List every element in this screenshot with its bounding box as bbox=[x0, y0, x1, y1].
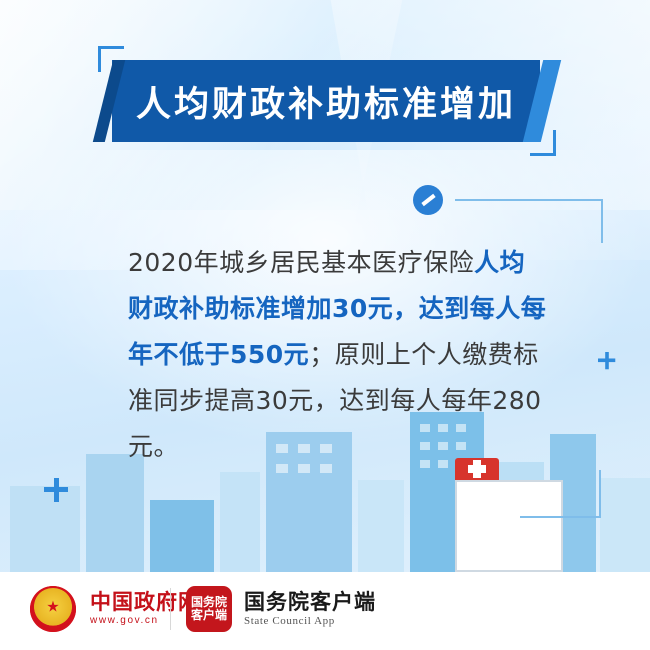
hospital-building bbox=[455, 480, 563, 572]
national-emblem-icon: ★ bbox=[30, 586, 76, 632]
app-name-en: State Council App bbox=[244, 614, 376, 628]
building bbox=[220, 472, 260, 572]
app-brand[interactable]: 国务院 客户端 国务院客户端 State Council App bbox=[186, 586, 376, 632]
gov-name-cn: 中国政府网 bbox=[90, 590, 200, 614]
corner-tick-top-left-v bbox=[98, 46, 101, 72]
footer-divider bbox=[170, 588, 171, 630]
gov-name-en: www.gov.cn bbox=[90, 614, 200, 628]
corner-tick-bottom-right-v bbox=[553, 130, 556, 156]
building bbox=[86, 454, 144, 572]
building bbox=[150, 500, 214, 572]
building bbox=[10, 486, 80, 572]
blue-dot-icon bbox=[413, 185, 443, 215]
corner-tick-top-left-h bbox=[98, 46, 124, 49]
app-icon-line2: 客户端 bbox=[191, 609, 227, 622]
body-text-part-1: 2020年城乡居民基本医疗保险 bbox=[128, 248, 474, 277]
state-council-app-icon: 国务院 客户端 bbox=[186, 586, 232, 632]
decor-line-vertical-lower bbox=[599, 470, 601, 518]
poster-canvas: 人均财政补助标准增加 2020年城乡居民基本医疗保险人均财政补助标准增加30元，… bbox=[0, 0, 650, 650]
footer-bar: ★ 中国政府网 www.gov.cn 国务院 客户端 国务院客户端 State … bbox=[0, 572, 650, 650]
title-banner: 人均财政补助标准增加 bbox=[112, 60, 540, 142]
app-name-cn: 国务院客户端 bbox=[244, 590, 376, 614]
decor-line-horizontal-lower bbox=[520, 516, 601, 518]
body-paragraph: 2020年城乡居民基本医疗保险人均财政补助标准增加30元，达到每人每年不低于55… bbox=[128, 240, 548, 470]
page-title: 人均财政补助标准增加 bbox=[112, 60, 540, 142]
decor-line-horizontal bbox=[455, 199, 603, 201]
decor-line-vertical bbox=[601, 199, 603, 243]
building bbox=[600, 478, 650, 572]
gov-brand[interactable]: ★ 中国政府网 www.gov.cn bbox=[30, 586, 200, 632]
building bbox=[358, 480, 404, 572]
